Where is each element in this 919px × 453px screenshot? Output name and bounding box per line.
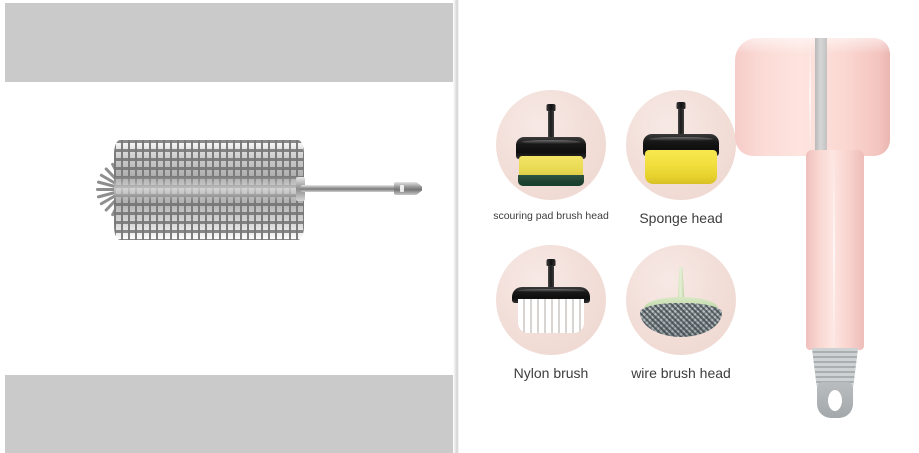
- panel-divider: [453, 0, 459, 453]
- wire-brush-head-label: wire brush head: [611, 365, 751, 381]
- left-white-margin: [0, 0, 5, 453]
- sponge-head-label: Sponge head: [611, 210, 751, 226]
- attachment-sponge-head: Sponge head: [611, 90, 751, 226]
- device-body-highlight: [735, 38, 890, 54]
- scouring-pad-stem: [548, 110, 554, 140]
- device-gray-accent-band: [815, 38, 827, 156]
- wire-brush-stem: [678, 267, 685, 301]
- left-product-panel: [0, 0, 459, 453]
- bottom-gray-band: [0, 375, 453, 453]
- right-product-panel: scouring pad brush head Sponge head Nylo…: [459, 0, 919, 453]
- top-gray-band: [0, 3, 453, 82]
- scouring-pad-brush-head-label: scouring pad brush head: [481, 210, 621, 222]
- device-ribbed-end-cap: [811, 348, 859, 386]
- handheld-device-image: [459, 0, 919, 453]
- device-hanging-hole: [828, 390, 842, 411]
- brush-barrel-highlight: [114, 176, 304, 202]
- wire-brush-steel-mesh: [640, 303, 722, 337]
- sponge-head-yellow-sponge: [645, 150, 717, 184]
- device-motor-body: [735, 38, 890, 156]
- attachment-nylon-brush: Nylon brush: [481, 245, 621, 381]
- brush-bit-notch: [400, 185, 404, 192]
- attachment-wire-brush-head: wire brush head: [611, 245, 751, 381]
- scouring-pad-circle: [496, 90, 606, 200]
- wire-brush-circle: [626, 245, 736, 355]
- device-hanging-tab: [817, 382, 853, 418]
- nylon-brush-bristles: [518, 299, 584, 333]
- nylon-brush-label: Nylon brush: [481, 365, 621, 381]
- attachment-scouring-pad-brush-head: scouring pad brush head: [481, 90, 621, 222]
- device-body-seam: [809, 40, 811, 154]
- sponge-head-circle: [626, 90, 736, 200]
- scouring-pad-green-scour: [518, 175, 584, 186]
- nylon-brush-circle: [496, 245, 606, 355]
- device-handle-seam: [833, 152, 835, 348]
- brush-hex-bit: [394, 182, 422, 195]
- product-image-canvas: scouring pad brush head Sponge head Nylo…: [0, 0, 919, 453]
- bottle-brush-product-image: [78, 140, 423, 240]
- device-handle: [806, 150, 864, 350]
